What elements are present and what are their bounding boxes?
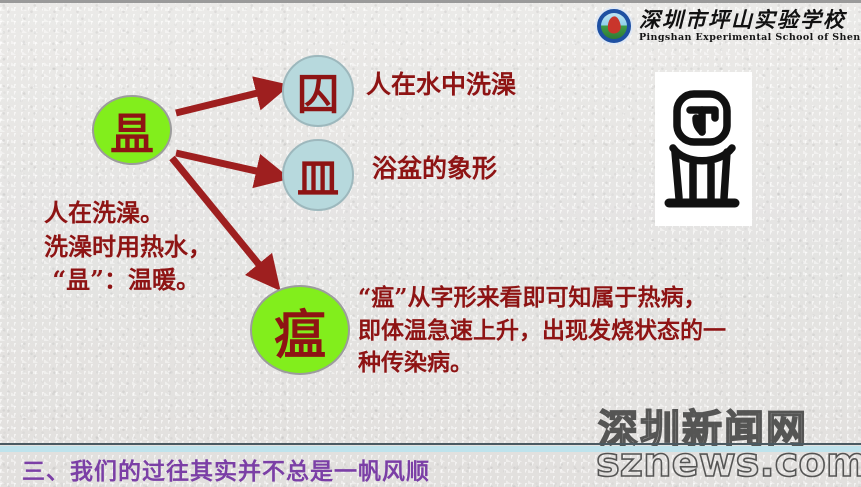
school-name-en: Pingshan Experimental School of Shenzhen xyxy=(639,33,861,43)
slide-canvas: 深圳市坪山实验学校 Pingshan Experimental School o… xyxy=(0,0,861,487)
top-border-rule xyxy=(0,0,861,3)
arrow-wen-to-qiu xyxy=(176,89,274,113)
oracle-bone-script-image xyxy=(655,72,752,226)
footer-section-title: 三、我们的过往其实并不总是一帆风顺 xyxy=(22,452,430,486)
label-min-gloss: 浴盆的象形 xyxy=(372,152,497,185)
school-name-cn: 深圳市坪山实验学校 xyxy=(639,9,861,30)
arrow-wen-to-min xyxy=(176,153,274,175)
school-logo: 深圳市坪山实验学校 Pingshan Experimental School o… xyxy=(595,4,857,48)
left-explanation-note: 人在洗澡。 洗澡时用热水， “昷”：温暖。 xyxy=(44,196,212,297)
node-wen[interactable]: 昷 xyxy=(92,95,172,165)
right-explanation-note: “瘟”从字形来看即可知属于热病， 即体温急速上升，出现发烧状态的一 种传染病。 xyxy=(358,282,726,380)
oracle-bone-script-wen-character xyxy=(655,72,752,226)
school-crest-icon xyxy=(595,7,633,45)
node-qiu[interactable]: 囚 xyxy=(282,55,354,127)
footer-rule-dark xyxy=(0,443,861,445)
label-qiu-gloss: 人在水中洗澡 xyxy=(366,68,516,101)
node-wenbing[interactable]: 瘟 xyxy=(250,285,350,375)
node-min[interactable]: 皿 xyxy=(282,139,354,211)
